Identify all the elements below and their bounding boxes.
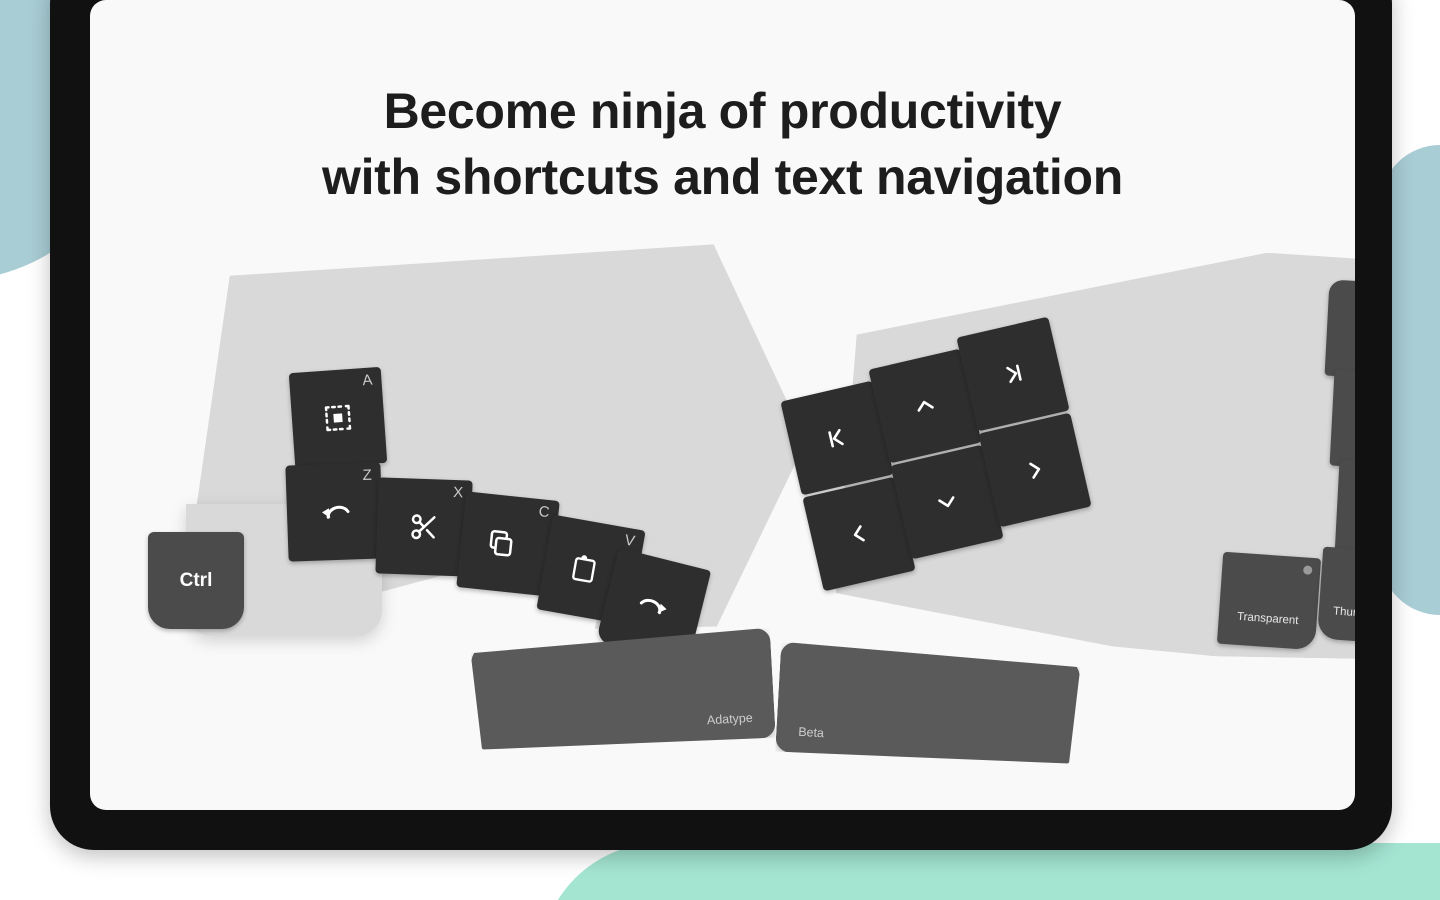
spacebar-right[interactable]: Beta: [775, 642, 1081, 769]
tablet-device: Become ninja of productivity with shortc…: [50, 0, 1392, 850]
spacebar-left-label: Adatype: [707, 711, 754, 728]
spacebar-left[interactable]: Adatype: [470, 628, 776, 755]
background-blob-bottom-mint: [540, 843, 1440, 900]
spacebar-right-label: Beta: [798, 725, 824, 740]
spacebar-row: Adatype Beta: [90, 0, 1355, 810]
tablet-screen: Become ninja of productivity with shortc…: [90, 0, 1355, 810]
